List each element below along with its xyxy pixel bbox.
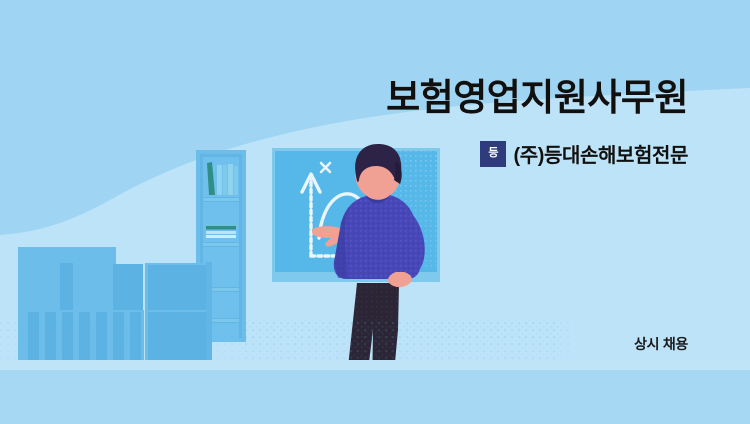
shelf-books-mid bbox=[206, 226, 236, 238]
office-illustration bbox=[0, 0, 750, 424]
floor-noise-mid bbox=[240, 318, 570, 362]
floor bbox=[0, 370, 750, 424]
job-posting-banner: 보험영업지원사무원 등 (주)등대손해보험전문 상시 채용 bbox=[0, 0, 750, 424]
